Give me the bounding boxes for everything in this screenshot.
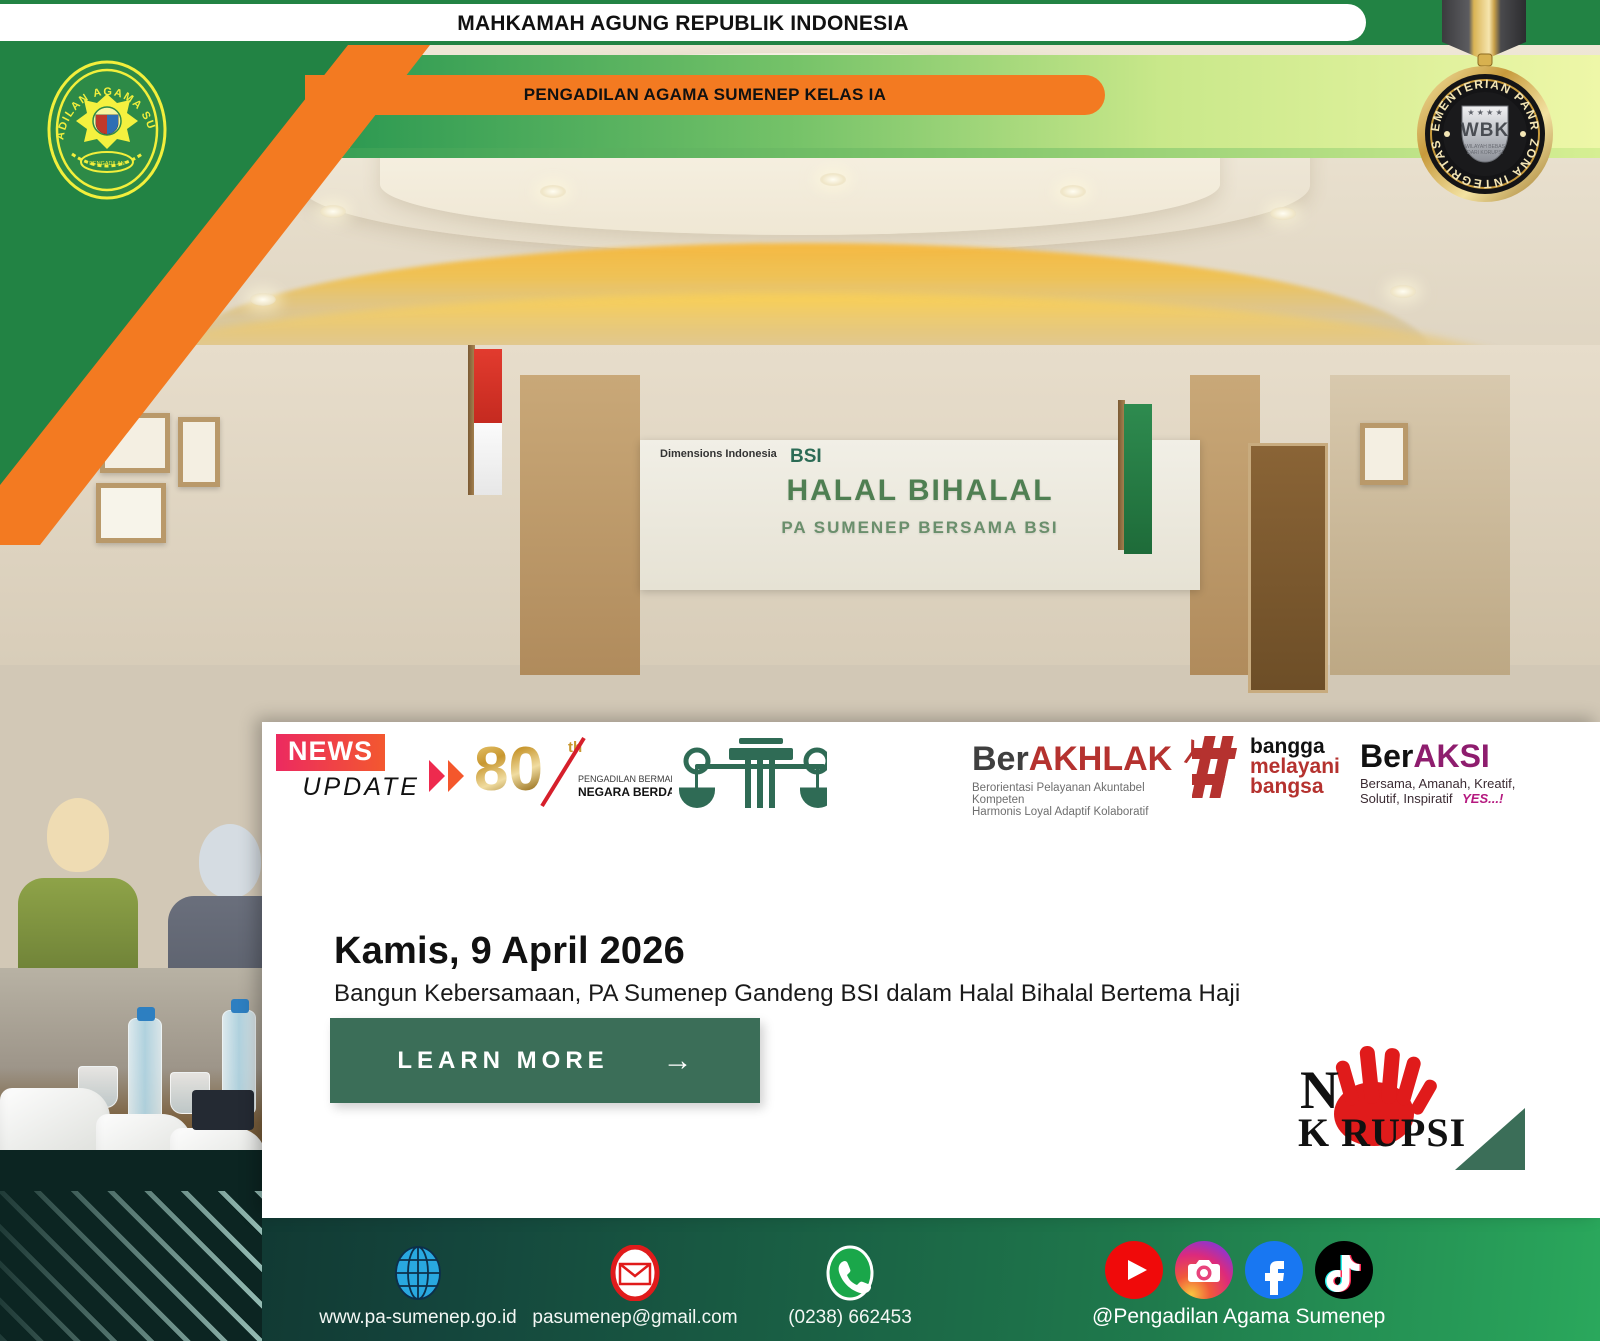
news-logo-strip: NEWS UPDATE 80 th PENGADILAN BERMARTABAT… [262,722,1600,822]
instagram-icon[interactable] [1175,1241,1233,1299]
court-name-banner: PENGADILAN AGAMA SUMENEP KELAS IA [305,75,1105,115]
contact-phone[interactable]: (0238) 662453 [760,1245,940,1329]
downlight [820,173,846,186]
no-korupsi-logo: N K RUPSI [1282,1022,1482,1152]
downlight [1060,185,1086,198]
downlight [540,185,566,198]
svg-text:PENGADILAN: PENGADILAN [89,161,124,167]
stage-banner-line2: PA SUMENEP BERSAMA BSI [640,518,1200,538]
news-update-label: UPDATE [276,773,426,802]
news-update-block: NEWS UPDATE [276,734,426,802]
berakhlak-highlight: AKHLAK [1029,740,1173,778]
wall-certificate [1360,423,1408,485]
svg-text:80: 80 [474,735,543,804]
stage-backdrop-banner: HALAL BIHALAL PA SUMENEP BERSAMA BSI Dim… [640,440,1200,590]
no-korupsi-line2: K RUPSI [1298,1110,1466,1152]
photo-door [1248,443,1328,693]
svg-text:NEGARA BERDAULAT: NEGARA BERDAULAT [578,785,672,799]
sponsor-logo-1: Dimensions Indonesia [660,448,777,460]
wall-certificate [178,417,220,487]
wall-wood-panel [1330,375,1510,675]
smartphone [192,1090,254,1130]
svg-text:PENGADILAN BERMARTABAT: PENGADILAN BERMARTABAT [578,774,672,784]
berakhlak-logo: BerAKHLAK ⟩ Berorientasi Pelayanan Akunt… [972,740,1182,818]
youtube-icon[interactable] [1105,1241,1163,1299]
court-name-label: PENGADILAN AGAMA SUMENEP KELAS IA [305,85,1105,105]
page-title: MAHKAMAH AGUNG REPUBLIK INDONESIA [0,12,1366,36]
beraksi-line1: Bersama, Amanah, Kreatif, [1360,776,1560,791]
facebook-icon[interactable] [1245,1241,1303,1299]
berakhlak-line1: Berorientasi Pelayanan Akuntabel Kompete… [972,782,1182,806]
berakhlak-prefix: Ber [972,740,1029,778]
downlight [1390,285,1416,298]
news-card: NEWS UPDATE 80 th PENGADILAN BERMARTABAT… [262,722,1600,1218]
website-label: www.pa-sumenep.go.id [318,1307,518,1329]
scales-of-justice-icon [667,732,827,810]
berakhlak-line2: Harmonis Loyal Adaptif Kolaboratif [972,806,1182,818]
tiktok-icon[interactable] [1315,1241,1373,1299]
news-headline: Bangun Kebersamaan, PA Sumenep Gandeng B… [334,980,1240,1008]
contact-email[interactable]: pasumenep@gmail.com [525,1245,745,1329]
news-badge: NEWS [276,734,385,771]
globe-icon [390,1245,446,1301]
bangga-line2: melayani [1250,757,1340,777]
social-handle: @Pengadilan Agama Sumenep [1092,1305,1385,1329]
phone-label: (0238) 662453 [760,1307,940,1329]
court-seal-logo: PENGADILAN AGAMA SUMENEP PENGADILAN [42,58,172,203]
zona-integritas-medal: KEMENTERIAN PANRB ZONA INTEGRITAS WBK ★ … [1394,0,1584,224]
downlight [320,205,346,218]
social-links: @Pengadilan Agama Sumenep [1092,1241,1385,1329]
svg-text:DARI KORUPSI: DARI KORUPSI [1467,150,1503,156]
hashtag-icon [1192,734,1244,800]
beraksi-highlight: AKSI [1413,738,1489,774]
poster-root: HALAL BIHALAL PA SUMENEP BERSAMA BSI Dim… [0,0,1600,1341]
diagonal-hatch-decoration [0,1150,262,1341]
wall-calendar [96,483,166,543]
learn-more-label: LEARN MORE [397,1047,608,1075]
beraksi-prefix: Ber [1360,738,1413,774]
arrow-right-icon: → [663,1046,693,1076]
chevron-double-icon [429,760,464,792]
phone-icon [822,1245,878,1301]
bangga-line1: bangga [1250,737,1340,757]
downlight [250,293,276,306]
contact-website[interactable]: www.pa-sumenep.go.id [318,1245,518,1329]
bangga-melayani-bangsa-logo: bangga melayani bangsa [1192,734,1382,814]
bangga-line3: bangsa [1250,777,1340,797]
email-label: pasumenep@gmail.com [525,1307,745,1329]
news-date: Kamis, 9 April 2026 [334,930,685,973]
beraksi-logo: BerAKSI Bersama, Amanah, Kreatif, Soluti… [1360,738,1560,806]
email-icon [607,1245,663,1301]
stage-banner-line1: HALAL BIHALAL [640,474,1200,508]
learn-more-button[interactable]: LEARN MORE → [330,1018,760,1103]
svg-text:★ ★ ★ ★: ★ ★ ★ ★ [1467,108,1502,117]
beraksi-line2: Solutif, Inspiratif [1360,791,1453,806]
downlight [1270,207,1296,220]
wall-wood-panel [520,375,640,675]
80th-anniversary-logo: 80 th PENGADILAN BERMARTABAT NEGARA BERD… [472,732,672,810]
sponsor-logo-2: BSI [790,446,822,468]
water-bottle [128,1018,162,1122]
svg-text:WBK: WBK [1461,120,1509,141]
beraksi-yes: YES...! [1462,791,1503,806]
top-header-bar: MAHKAMAH AGUNG REPUBLIK INDONESIA [0,4,1366,41]
